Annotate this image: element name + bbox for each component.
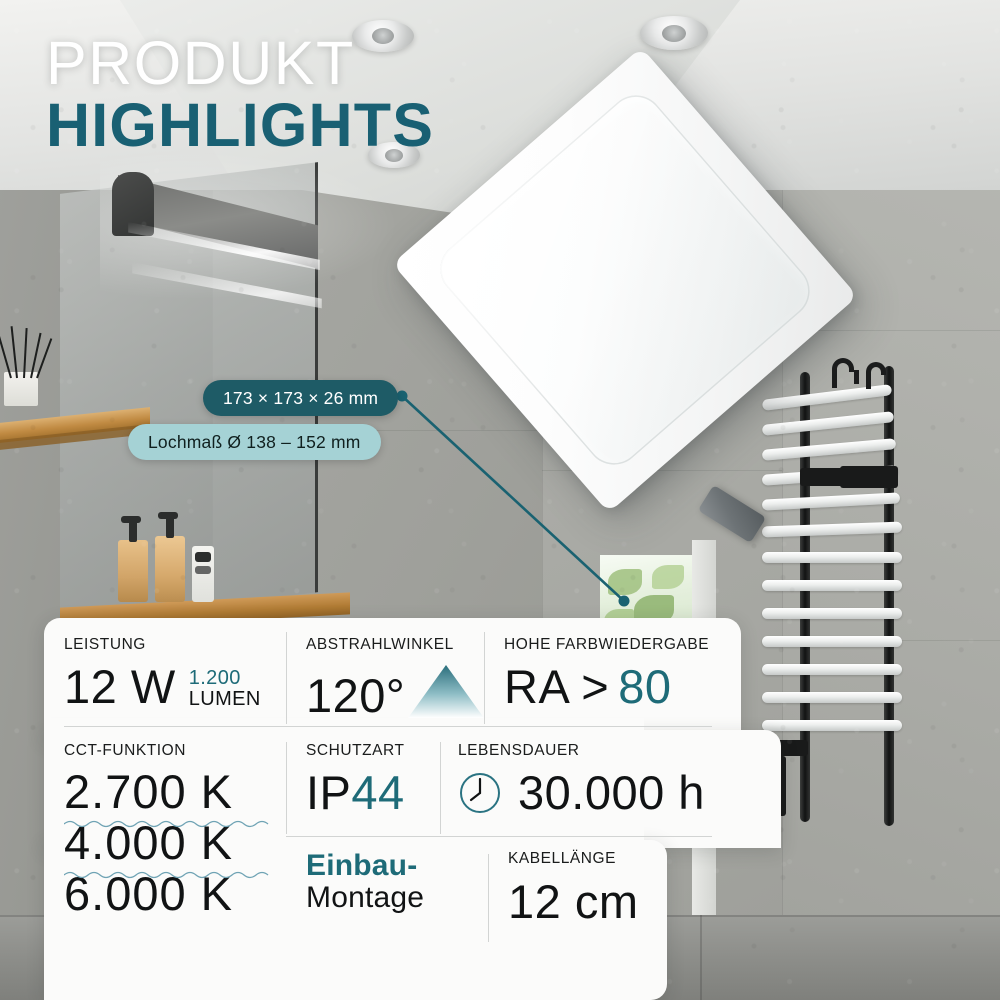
spec-caption-kabellaenge: KABELLÄNGE [508, 850, 639, 868]
spec-row-separator [64, 726, 712, 727]
spec-caption-farbwiedergabe: HOHE FARBWIEDERGABE [504, 636, 709, 654]
spec-card: LEISTUNG 12 W 1.200 LUMEN ABSTRAHLWINKEL… [44, 618, 804, 1000]
spec-value-montage-line-1: Einbau- [306, 850, 424, 882]
spec-cell-montage: Einbau- Montage [306, 850, 424, 915]
spec-divider [484, 632, 485, 724]
callout-cutout-text: Lochmaß Ø 138 – 152 mm [148, 432, 361, 453]
spec-lumen-value: 1.200 [189, 668, 241, 689]
spec-caption-leistung: LEISTUNG [64, 636, 261, 654]
callout-dimensions-text: 173 × 173 × 26 mm [223, 388, 378, 409]
spec-divider [440, 742, 441, 834]
product-highlight-image: 173 × 173 × 26 mm Lochmaß Ø 138 – 152 mm… [0, 0, 1000, 1000]
spec-divider [286, 632, 287, 724]
callout-dimensions-pill: 173 × 173 × 26 mm [203, 380, 398, 416]
spec-divider [488, 854, 489, 942]
spec-lumen-label: LUMEN [189, 689, 261, 710]
spec-caption-cct: CCT-FUNKTION [64, 742, 233, 760]
spec-divider [286, 742, 287, 834]
led-panel-product [430, 65, 830, 625]
cct-wave-divider-icon [64, 819, 272, 828]
led-panel-sheen [429, 84, 821, 476]
spec-cell-schutzart: SCHUTZART IP44 [306, 742, 405, 816]
callout-cutout-pill: Lochmaß Ø 138 – 152 mm [128, 424, 381, 460]
spec-value-abstrahlwinkel: 120° [306, 672, 405, 719]
spec-cell-leistung: LEISTUNG 12 W 1.200 LUMEN [64, 636, 261, 710]
led-panel-body-wrapper [392, 47, 858, 513]
spec-value-montage-line-2: Montage [306, 882, 424, 914]
spec-cell-farbwiedergabe: HOHE FARBWIEDERGABE RA >80 [504, 636, 709, 710]
spec-value-lebensdauer: 30.000 h [518, 769, 705, 816]
headline-line-2: HIGHLIGHTS [46, 94, 434, 157]
cct-wave-divider-icon [64, 870, 272, 879]
spec-value-kabellaenge: 12 cm [508, 878, 639, 925]
spec-cell-lebensdauer: LEBENSDAUER 30.000 h [458, 742, 705, 816]
spec-cell-cct: CCT-FUNKTION 2.700 K 4.000 K 6.000 K [64, 742, 233, 917]
spec-cell-abstrahlwinkel: ABSTRAHLWINKEL 120° [306, 636, 485, 719]
spec-cell-kabellaenge: KABELLÄNGE 12 cm [508, 850, 639, 925]
spec-value-cct-1: 2.700 K [64, 768, 233, 815]
mounting-clip [698, 485, 766, 543]
spec-lumen-block: 1.200 LUMEN [189, 668, 261, 710]
spec-value-ra-number: 80 [618, 660, 671, 713]
spec-row-separator [286, 836, 712, 837]
headline-line-1: PRODUKT [46, 32, 434, 94]
spec-value-ip-number: 44 [351, 766, 404, 819]
spec-caption-schutzart: SCHUTZART [306, 742, 405, 760]
spec-value-ra-prefix: RA > [504, 660, 609, 713]
spec-caption-lebensdauer: LEBENSDAUER [458, 742, 705, 760]
clock-icon [458, 771, 502, 815]
spec-caption-abstrahlwinkel: ABSTRAHLWINKEL [306, 636, 485, 654]
beam-angle-triangle-icon [407, 663, 485, 719]
spec-value-ip-prefix: IP [306, 766, 351, 819]
spec-value-leistung: 12 W [64, 663, 176, 710]
page-title: PRODUKT HIGHLIGHTS [46, 32, 434, 158]
